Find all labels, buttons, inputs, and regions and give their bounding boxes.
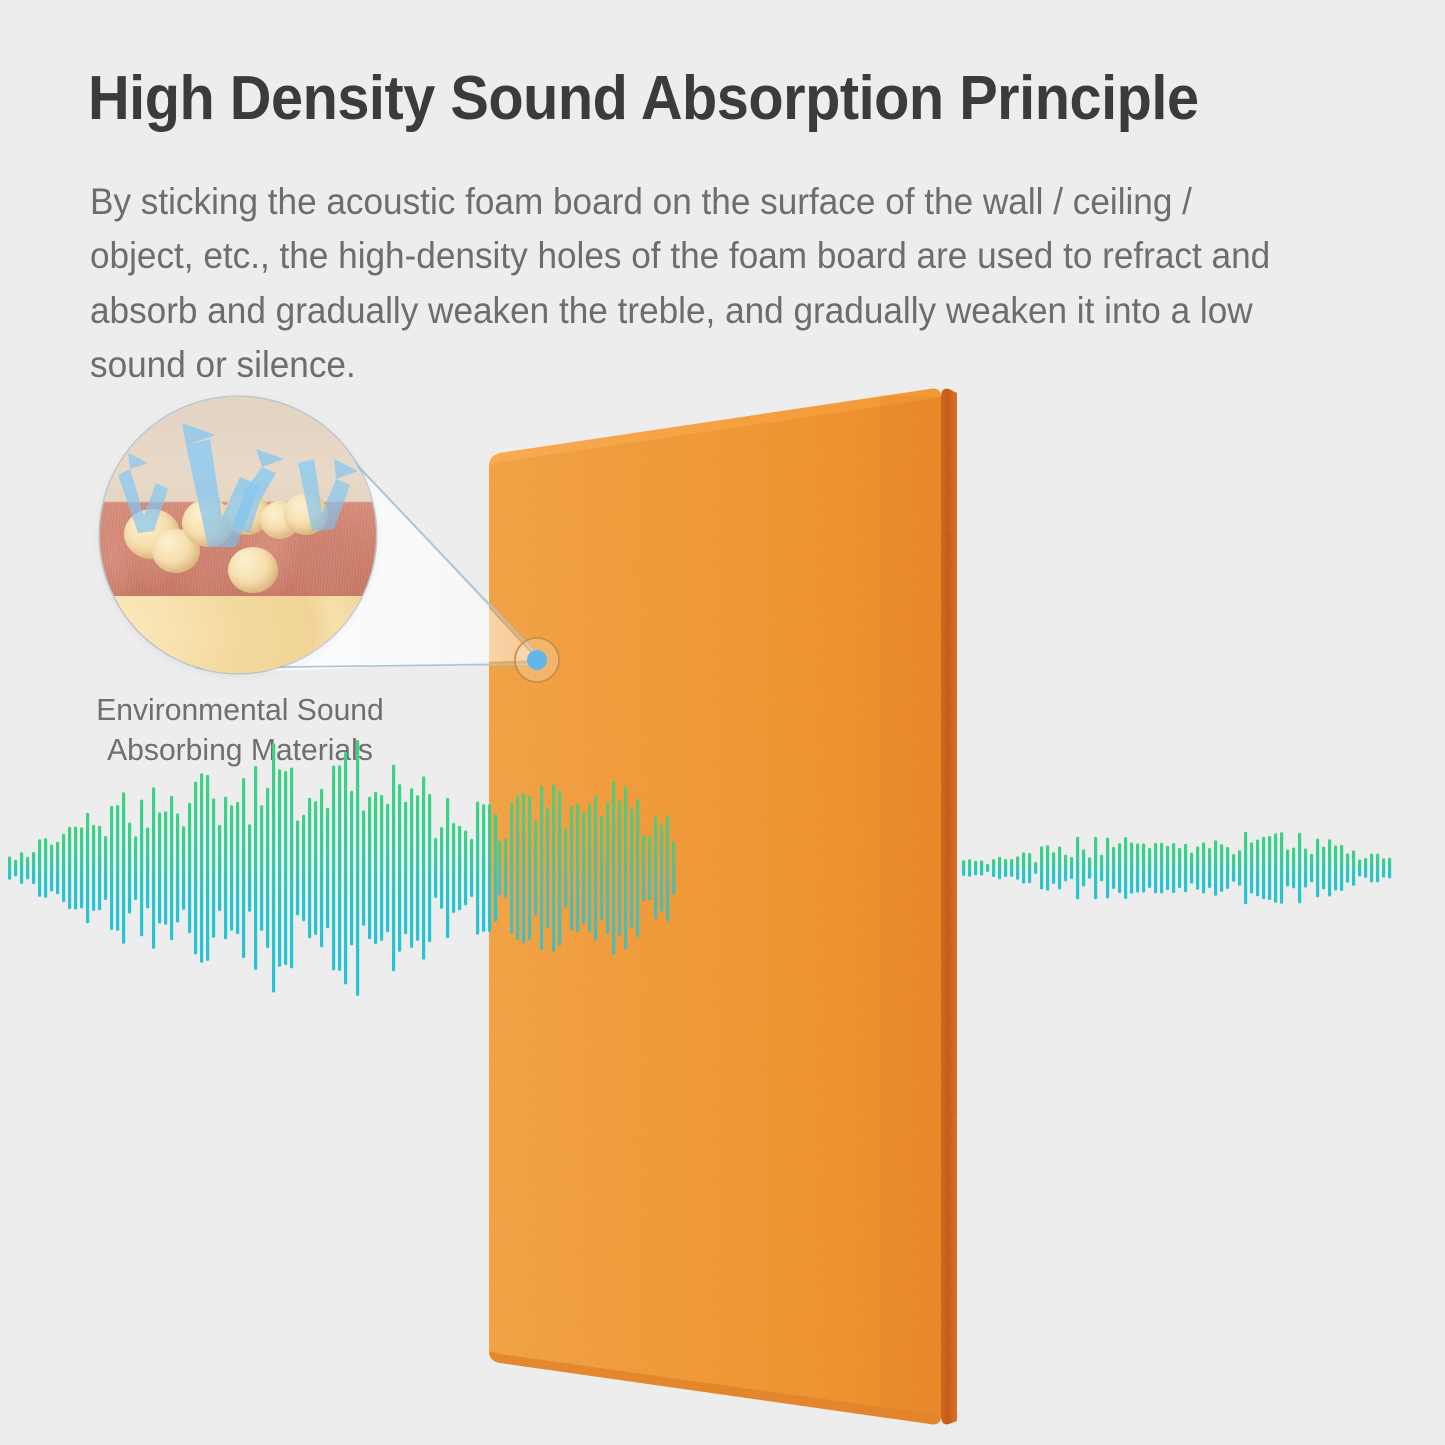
waveform-bar	[504, 838, 507, 898]
waveform-bar	[104, 836, 107, 900]
waveform-bar	[510, 802, 513, 934]
waveform-bar	[1220, 844, 1223, 892]
waveform-bar	[26, 857, 29, 880]
waveform-bar	[1328, 839, 1331, 896]
panel-bottom-bevel	[489, 1351, 941, 1424]
waveform-bar	[1172, 843, 1175, 893]
waveform-inside-board	[498, 781, 675, 955]
waveform-bar	[1190, 853, 1193, 884]
waveform-bar	[74, 827, 77, 910]
waveform-bar	[1274, 833, 1277, 903]
waveform-bar	[630, 808, 633, 928]
waveform-bar	[1022, 852, 1025, 884]
waveform-bar	[1244, 832, 1247, 905]
waveform-bar	[1262, 837, 1265, 900]
waveform-bar	[320, 789, 323, 948]
waveform-bar	[1214, 840, 1217, 896]
waveform-bar	[332, 766, 335, 971]
waveform-bar	[326, 808, 329, 929]
waveform-bar	[338, 765, 341, 971]
waveform-bar	[80, 827, 83, 908]
waveform-bar	[992, 859, 995, 877]
waveform-bar	[1160, 843, 1163, 894]
waveform-bar	[50, 845, 53, 892]
waveform-bar	[654, 817, 657, 919]
waveform-bar	[446, 798, 449, 939]
waveform-bar	[188, 803, 191, 934]
waveform-bar	[92, 825, 95, 911]
waveform-bar	[122, 792, 125, 944]
waveform-bar	[1106, 838, 1109, 899]
waveform-bar	[296, 820, 299, 915]
waveform-bar	[176, 813, 179, 922]
waveform-bar	[368, 797, 371, 940]
waveform-bar	[386, 804, 389, 933]
waveform-bar	[146, 828, 149, 909]
waveform-bar	[1310, 854, 1313, 883]
waveform-bar	[404, 802, 407, 935]
waveform-bar	[1100, 855, 1103, 882]
waveform-bar	[1046, 845, 1049, 890]
waveform-bar	[416, 795, 419, 941]
waveform-bar	[1064, 855, 1067, 882]
waveform-bar	[1040, 846, 1043, 889]
waveform-bar	[516, 796, 519, 940]
waveform-bar	[1268, 836, 1271, 900]
magnifier-caption-line-2: Absorbing Materials	[65, 730, 414, 770]
waveform-bar	[1280, 832, 1283, 904]
waveform-bar	[458, 826, 461, 911]
magnifier-caption-line-1: Environmental Sound	[65, 690, 414, 730]
waveform-bar	[398, 784, 401, 952]
waveform-bar	[482, 804, 485, 932]
waveform-bar	[1346, 853, 1349, 883]
waveform-bar	[494, 815, 497, 922]
waveform-bar	[1208, 848, 1211, 888]
callout-target-dot	[527, 650, 547, 670]
panel-right-edge	[941, 389, 957, 1425]
waveform-bar	[164, 811, 167, 925]
waveform-bar	[648, 836, 651, 900]
waveform-bar	[56, 842, 59, 894]
waveform-bar	[218, 825, 221, 911]
waveform-bar	[158, 812, 161, 923]
waveform-bar	[600, 816, 603, 920]
waveform-bar	[576, 804, 579, 933]
waveform-bar	[374, 792, 377, 944]
waveform-bar	[582, 812, 585, 925]
waveform-bar	[62, 834, 65, 903]
waveform-bar	[588, 804, 591, 933]
waveform-bar	[212, 798, 215, 937]
waveform-bar	[1232, 854, 1235, 882]
waveform-bar	[260, 805, 263, 931]
waveform-bar	[980, 860, 983, 875]
waveform-bar	[116, 805, 119, 931]
infographic-canvas: High Density Sound Absorption Principle …	[0, 0, 1445, 1445]
waveform-bar	[1082, 849, 1085, 886]
waveform-bar	[362, 810, 365, 926]
waveform-bar	[290, 768, 293, 969]
waveform-bar	[422, 776, 425, 959]
waveform-bar	[570, 806, 573, 931]
waveform-bar	[1340, 845, 1343, 891]
waveform-bar	[962, 860, 965, 876]
page-title: High Density Sound Absorption Principle	[88, 66, 1278, 131]
waveform-bar	[1334, 845, 1337, 890]
waveform-bar	[1136, 843, 1139, 892]
waveform-bar	[1388, 858, 1391, 879]
waveform-bar	[434, 838, 437, 898]
waveform-bar	[140, 800, 143, 937]
waveform-bar	[1070, 857, 1073, 879]
waveform-bar	[1382, 858, 1385, 877]
waveform-bar	[206, 775, 209, 961]
waveform-bar	[272, 743, 275, 992]
waveform-bar	[344, 752, 347, 985]
panel-top-bevel	[489, 389, 941, 466]
waveform-bar	[1076, 837, 1079, 900]
waveform-bar	[1184, 844, 1187, 893]
waveform-bar	[236, 802, 239, 934]
waveform-bar	[666, 815, 669, 921]
waveform-bar	[1226, 847, 1229, 889]
waveform-bar	[428, 794, 431, 942]
waveform-bar	[224, 797, 227, 940]
waveform-bar	[14, 860, 17, 877]
waveform-bar	[1052, 852, 1055, 884]
waveform-bar	[968, 859, 971, 877]
callout-target-ring	[515, 638, 559, 682]
waveform-bar	[986, 864, 989, 872]
waveform-bar	[660, 824, 663, 911]
waveform-bar	[606, 802, 609, 934]
waveform-bar	[1304, 848, 1307, 887]
waveform-bar	[44, 838, 47, 898]
waveform-bar	[1130, 842, 1133, 893]
waveform-bar	[38, 839, 41, 897]
waveform-bar	[1148, 848, 1151, 888]
waveform-bar	[1094, 837, 1097, 900]
waveform-bar	[470, 839, 473, 897]
waveform-bar	[200, 773, 203, 963]
waveform-bar	[1088, 857, 1091, 878]
waveform-bar	[380, 795, 383, 941]
waveform-bar	[1112, 847, 1115, 889]
waveform-bar	[32, 852, 35, 884]
waveform-bar	[498, 841, 501, 896]
waveform-bar	[552, 784, 555, 952]
waveform-bar	[1004, 859, 1007, 877]
waveform-bar	[1358, 860, 1361, 877]
waveform-bar	[540, 786, 543, 951]
waveform-bar	[624, 786, 627, 949]
panel-front-face	[489, 389, 941, 1425]
magnifier-inset	[100, 397, 376, 673]
waveform-bar	[1316, 839, 1319, 898]
magnifier-caption: Environmental Sound Absorbing Materials	[65, 690, 414, 771]
waveform-attenuated	[962, 832, 1391, 905]
waveform-bar	[546, 808, 549, 928]
waveform-bar	[1124, 837, 1127, 899]
waveform-bar	[1028, 853, 1031, 883]
waveform-bar	[194, 782, 197, 955]
waveform-bar	[1298, 833, 1301, 904]
waveform-bar	[612, 781, 615, 955]
waveform-bar	[134, 836, 137, 900]
waveform-bar	[170, 796, 173, 940]
waveform-bar	[86, 813, 89, 924]
waveform-bar	[356, 740, 359, 996]
waveform-bar	[1010, 859, 1013, 877]
waveform-bar	[618, 800, 621, 936]
waveform-bar	[1250, 842, 1253, 893]
waveform-bar	[1118, 843, 1121, 893]
waveform-bar	[1142, 843, 1145, 892]
waveform-bar	[1016, 856, 1019, 880]
waveform-bar	[308, 798, 311, 938]
waveform-bar	[488, 804, 491, 932]
waveform-bar	[392, 765, 395, 972]
waveform-bar	[594, 795, 597, 940]
waveform-bar	[20, 852, 23, 884]
waveform-bar	[1154, 843, 1157, 894]
waveform-bar	[1178, 848, 1181, 888]
waveform-bar	[1286, 849, 1289, 886]
waveform-bar	[558, 790, 561, 945]
waveform-bar	[1034, 862, 1037, 874]
waveform-bar	[534, 820, 537, 916]
waveform-bar	[476, 802, 479, 935]
waveform-bar	[974, 861, 977, 876]
waveform-bar	[128, 823, 131, 914]
waveform-bar	[1166, 846, 1169, 890]
waveform-bar	[1058, 847, 1061, 890]
waveform-bar	[248, 824, 251, 912]
waveform-bar	[8, 856, 11, 879]
waveform-bar	[314, 801, 317, 935]
waveform-bar	[68, 827, 71, 909]
waveform-bar	[152, 787, 155, 949]
waveform-bar	[522, 793, 525, 944]
waveform-bar	[528, 796, 531, 940]
waveform-bar	[230, 805, 233, 931]
waveform-bar	[1364, 858, 1367, 878]
waveform-bar	[642, 835, 645, 902]
waveform-bar	[242, 778, 245, 958]
waveform-bar	[410, 788, 413, 948]
waveform-bar	[452, 823, 455, 913]
waveform-bar	[278, 769, 281, 967]
waveform-bar	[1322, 847, 1325, 890]
waveform-bar	[266, 788, 269, 948]
waveform-bar	[672, 841, 675, 895]
waveform-bar	[1376, 854, 1379, 883]
waveform-bar	[1370, 854, 1373, 883]
waveform-bar	[110, 806, 113, 930]
waveform-bar	[98, 826, 101, 910]
sound-wave-arrows	[100, 397, 376, 673]
waveform-bar	[998, 857, 1001, 880]
waveform-bar	[440, 827, 443, 909]
waveform-bar	[1352, 850, 1355, 886]
waveform-bar	[350, 791, 353, 946]
waveform-bar	[302, 815, 305, 921]
waveform-bar	[254, 766, 257, 970]
waveform-bar	[564, 828, 567, 908]
waveform-bar	[1238, 850, 1241, 885]
waveform-bar	[464, 831, 467, 906]
waveform-incoming	[8, 740, 497, 996]
page-description: By sticking the acoustic foam board on t…	[90, 175, 1297, 393]
waveform-bar	[1256, 840, 1259, 897]
waveform-bar	[1292, 848, 1295, 889]
panel-face-shading	[880, 395, 941, 1416]
waveform-bar	[1196, 846, 1199, 889]
waveform-bar	[636, 799, 639, 937]
waveform-bar	[182, 826, 185, 910]
waveform-bar	[1202, 842, 1205, 893]
waveform-bar	[284, 771, 287, 965]
